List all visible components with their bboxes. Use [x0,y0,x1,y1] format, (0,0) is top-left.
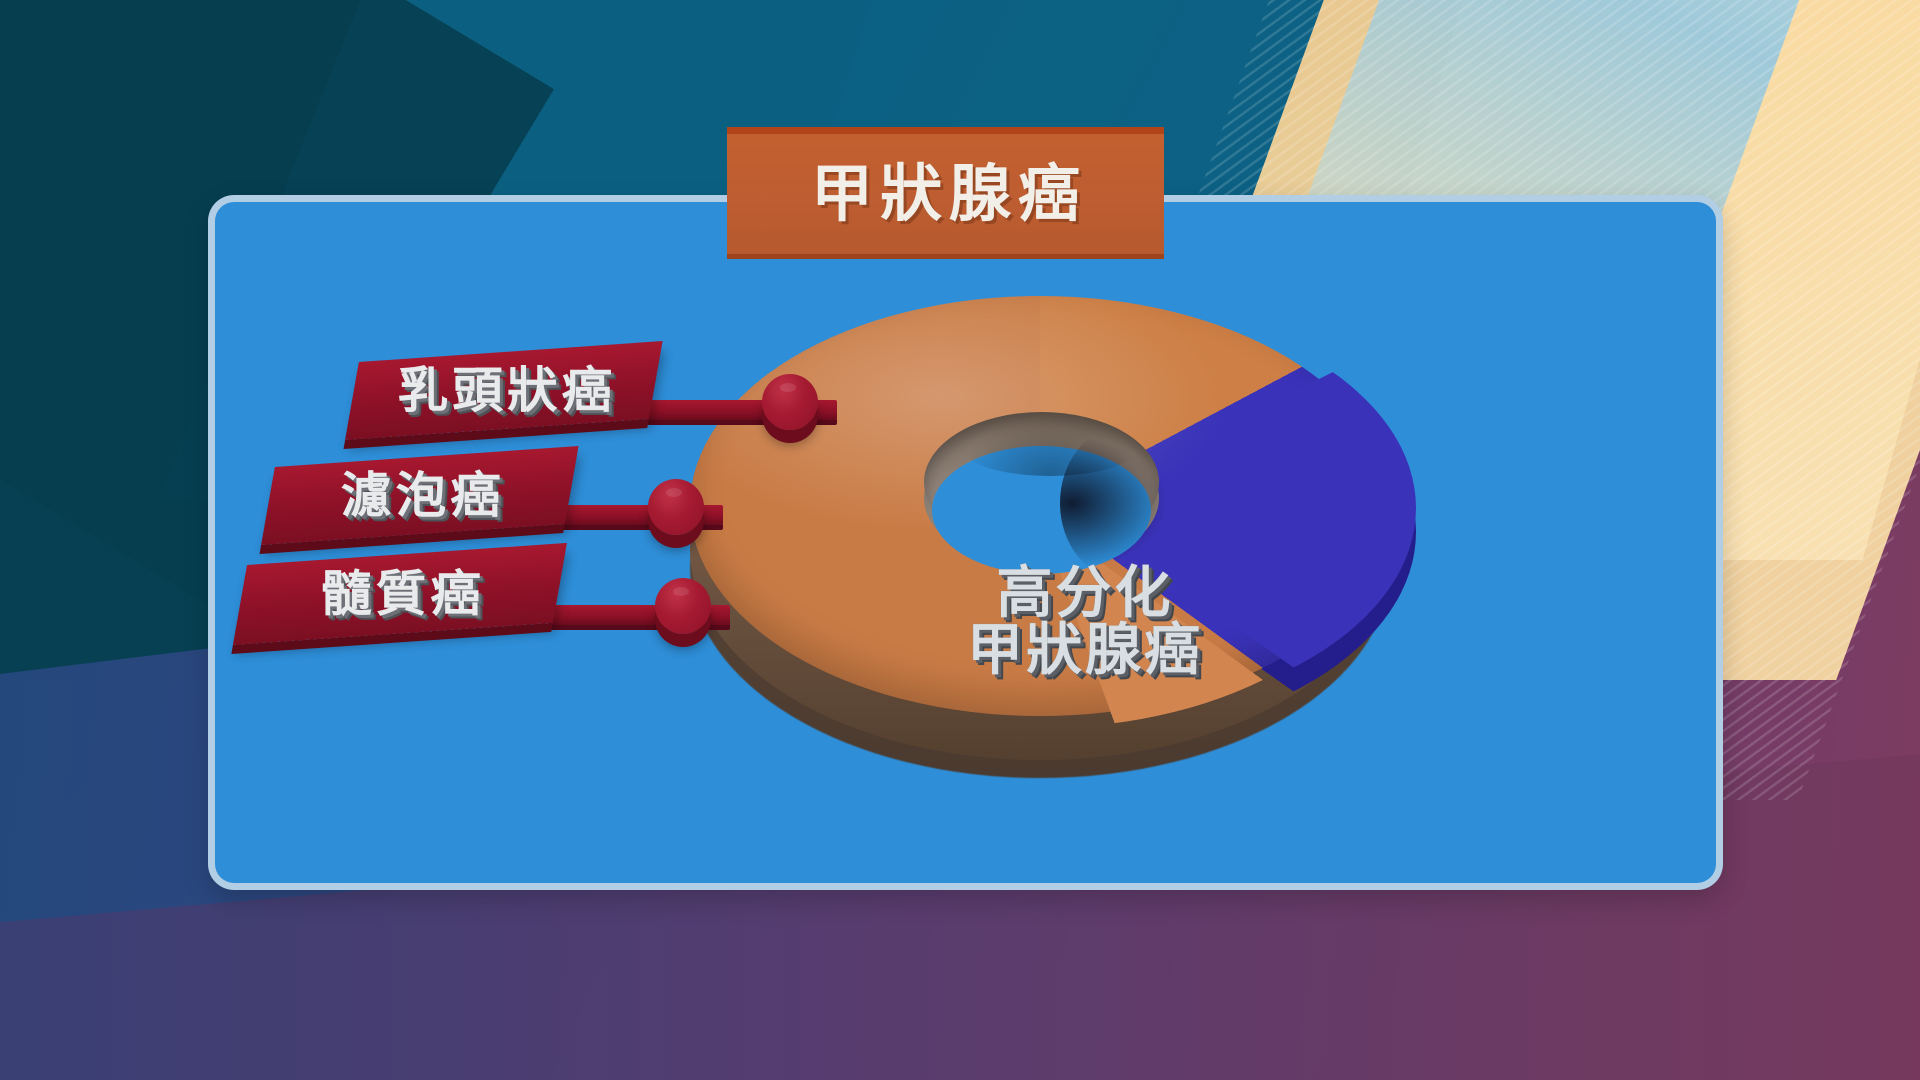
callout-pin-marker [762,374,818,430]
donut-hole-dark-side [1060,428,1180,578]
title-banner: 甲狀腺癌 [727,127,1164,259]
chart-center-label: 高分化 甲狀腺癌 [905,565,1265,679]
callout-pin-marker [648,479,704,535]
center-label-line-2: 甲狀腺癌 [905,622,1265,679]
page-title: 甲狀腺癌 [804,163,1087,225]
callout-medullary[interactable]: 髓質癌 [240,565,556,645]
callout-label-follicular: 濾泡癌 [335,471,505,521]
callout-label-medullary: 髓質癌 [315,569,485,619]
callout-pin-marker [655,578,711,634]
callout-follicular[interactable]: 濾泡癌 [268,467,568,545]
center-label-line-1: 高分化 [905,565,1265,622]
donut-chart [660,288,1420,818]
callout-papillary[interactable]: 乳頭狀癌 [352,362,652,440]
callout-label-papillary: 乳頭狀癌 [391,366,616,416]
infographic-stage: 甲狀腺癌 高分化 甲狀腺癌 乳頭狀癌 濾泡癌 [0,0,1920,1080]
